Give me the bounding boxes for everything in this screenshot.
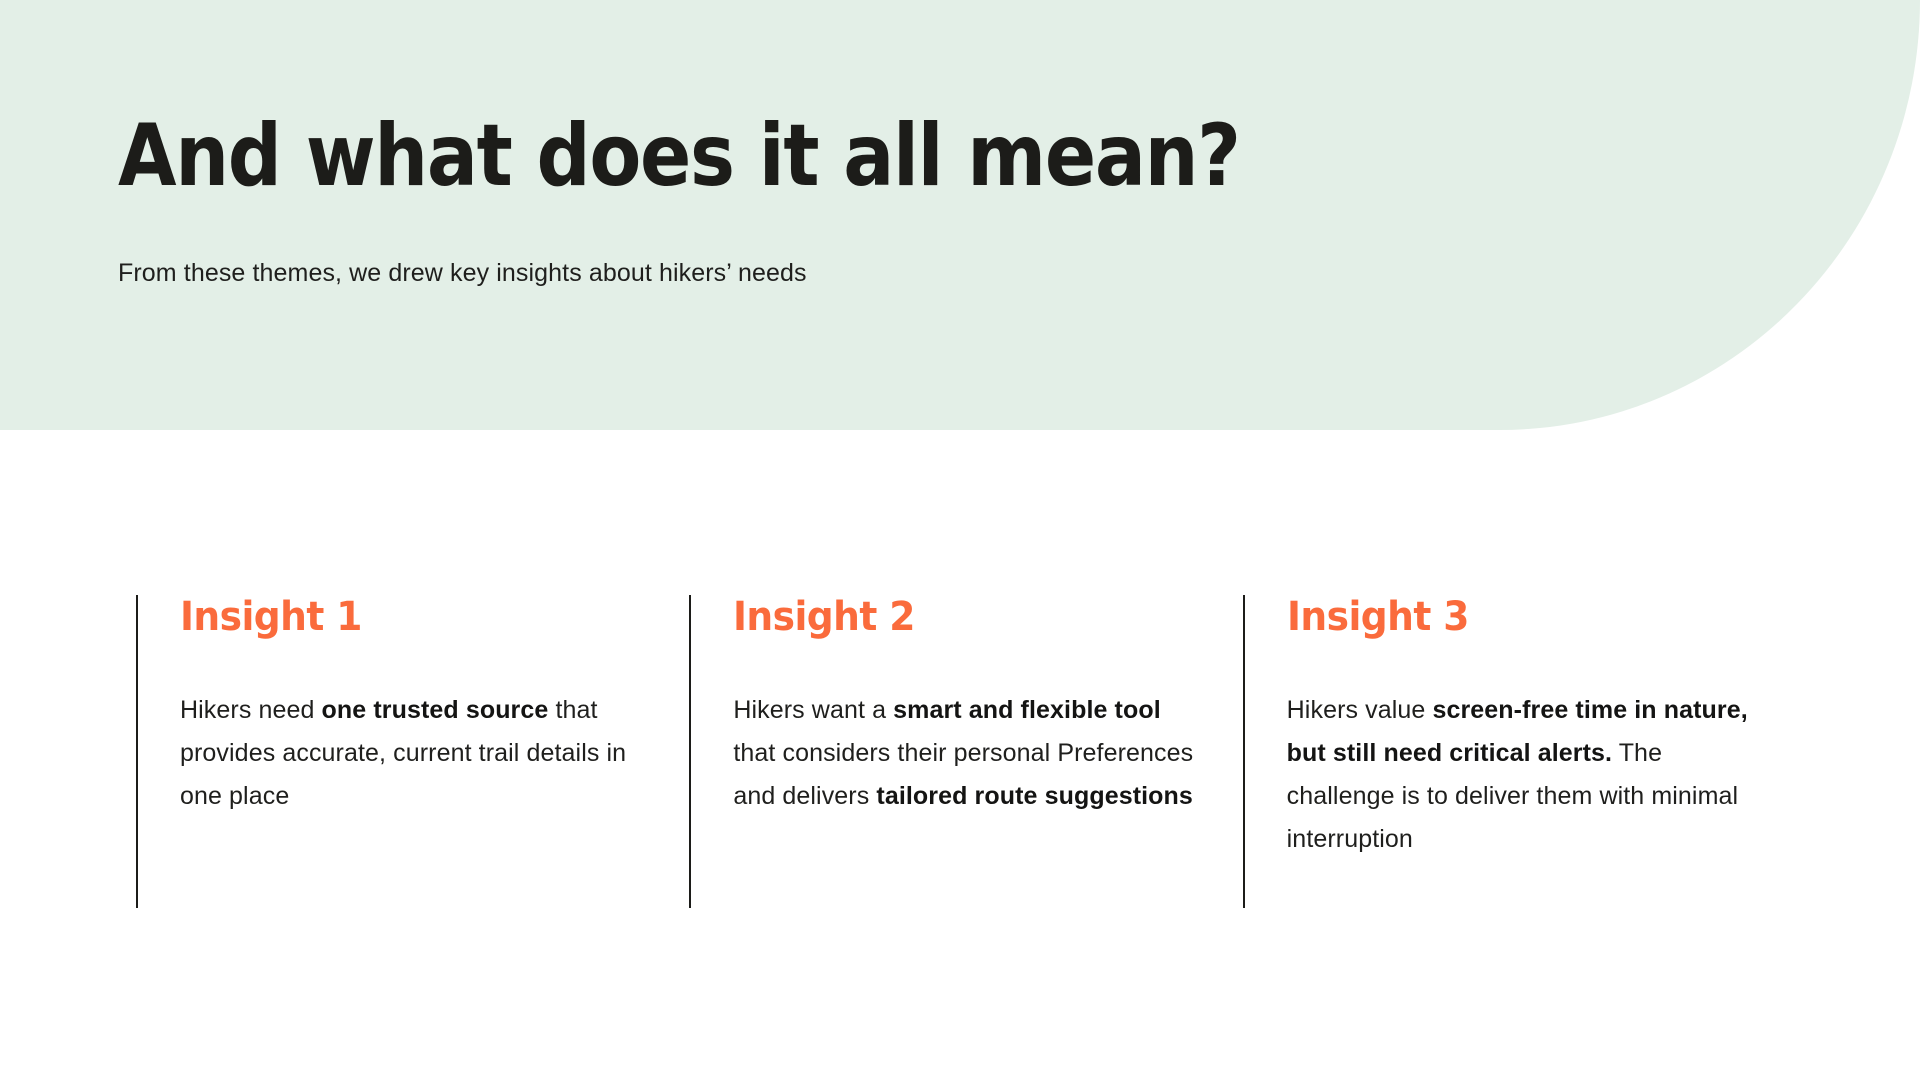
insight-body-1: Hikers need one trusted source that prov…: [180, 689, 653, 818]
insight-column-2: Insight 2 Hikers want a smart and flexib…: [689, 595, 1242, 908]
insight-column-1: Insight 1 Hikers need one trusted source…: [136, 595, 689, 908]
body-text: Hikers value: [1287, 696, 1433, 724]
insight-title-1: Insight 1: [180, 595, 625, 639]
insight-body-3: Hikers value screen-free time in nature,…: [1287, 689, 1760, 861]
body-text: Hikers need: [180, 696, 322, 724]
insight-title-2: Insight 2: [733, 595, 1178, 639]
body-text: Hikers want a: [733, 696, 893, 724]
emphasis-text: one trusted source: [322, 696, 549, 724]
page-subtitle: From these themes, we drew key insights …: [118, 256, 807, 290]
insight-body-2: Hikers want a smart and flexible tool th…: [733, 689, 1206, 818]
insights-row: Insight 1 Hikers need one trusted source…: [136, 595, 1796, 908]
emphasis-text: smart and flexible tool: [893, 696, 1161, 724]
insight-title-3: Insight 3: [1287, 595, 1732, 639]
page-title: And what does it all mean?: [118, 108, 1240, 204]
emphasis-text: tailored route suggestions: [876, 782, 1193, 810]
hero-green-band: [0, 0, 1920, 430]
insight-column-3: Insight 3 Hikers value screen-free time …: [1243, 595, 1796, 908]
